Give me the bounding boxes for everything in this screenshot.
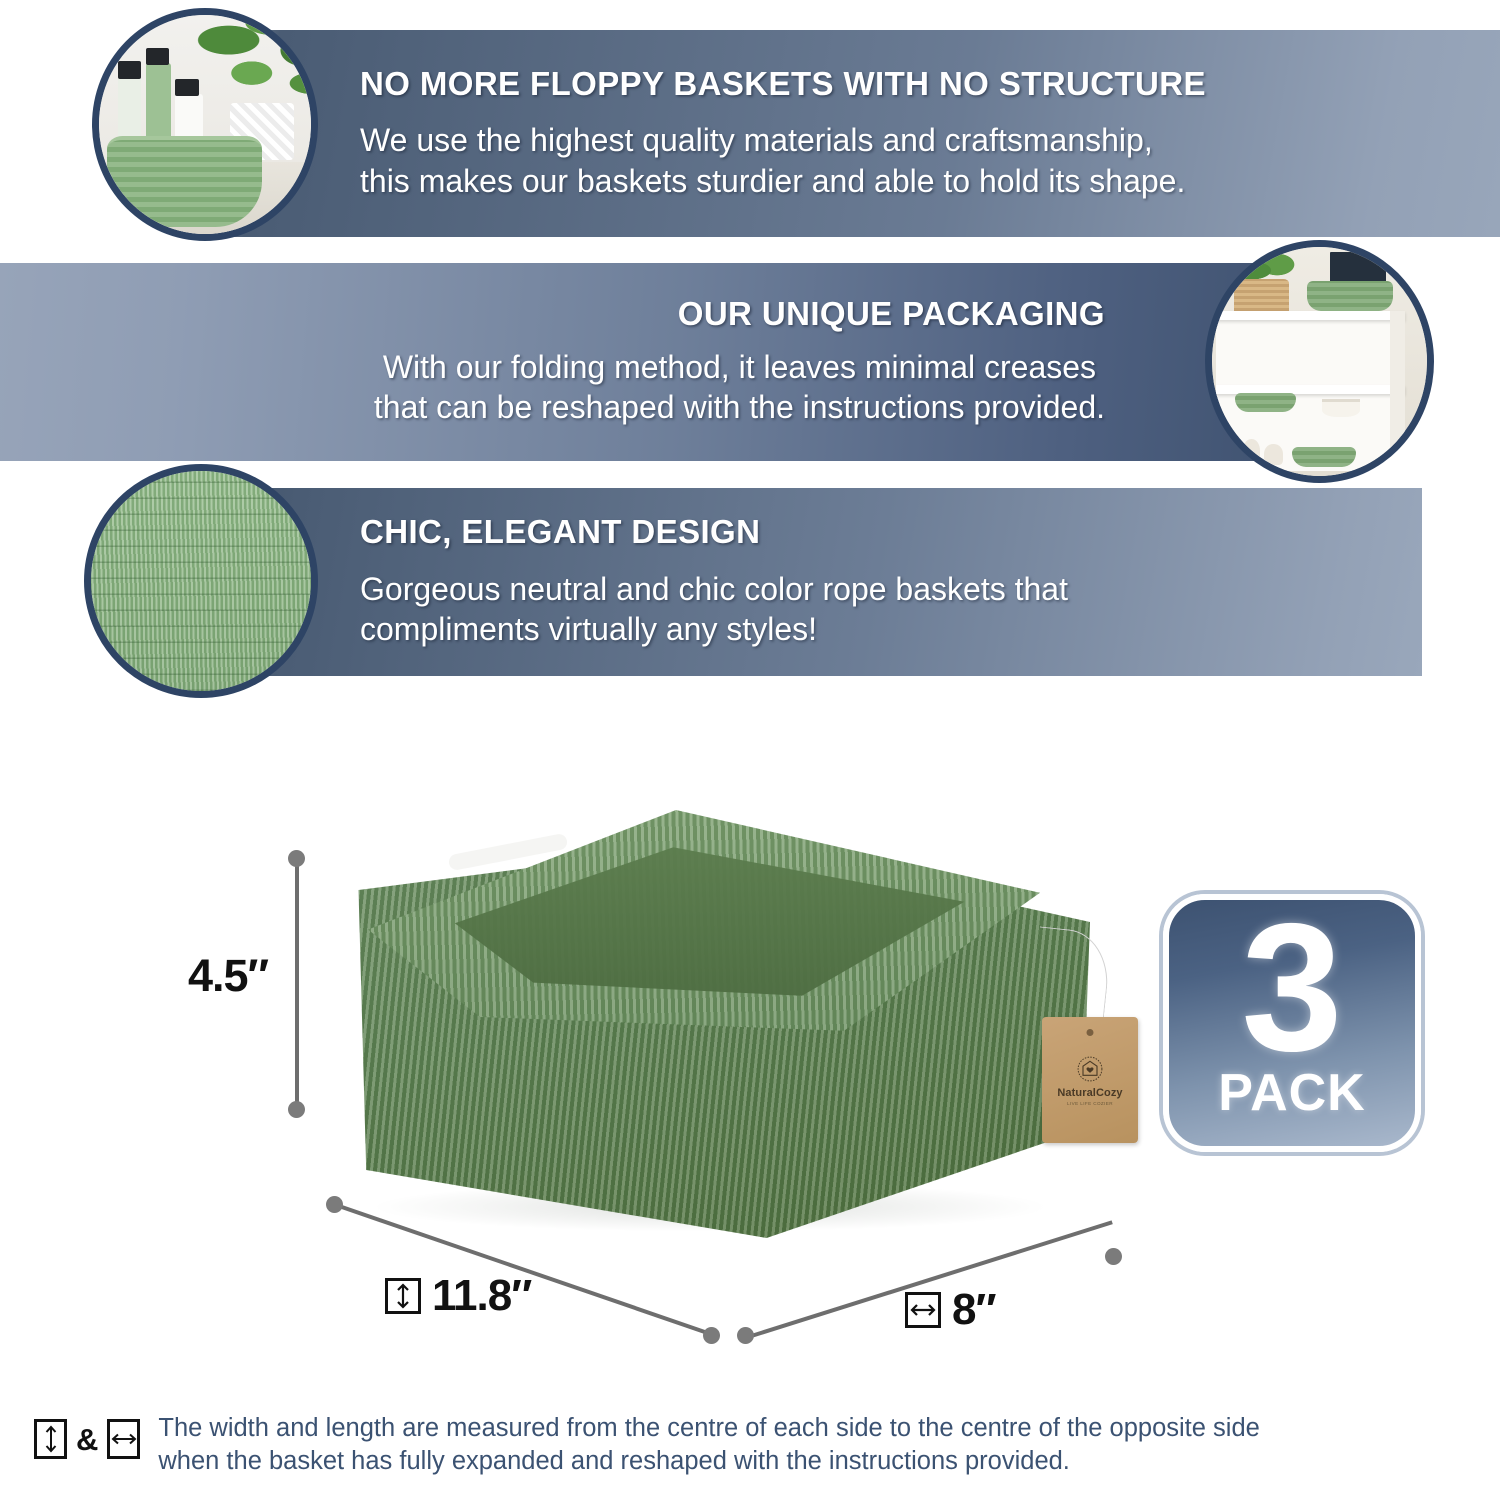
feature-body-design: Gorgeous neutral and chic color rope bas… [360, 569, 1382, 650]
disclaimer-line-1: The width and length are measured from t… [158, 1414, 1259, 1442]
dimension-dot [288, 1101, 305, 1118]
bottle-icon [118, 76, 141, 142]
green-rope-basket-icon [107, 136, 262, 228]
measurement-disclaimer: & The width and length are measured from… [34, 1412, 1474, 1478]
feature-banner-design: CHIC, ELEGANT DESIGN Gorgeous neutral an… [200, 488, 1422, 676]
hang-tag-brand: NaturalCozy [1057, 1087, 1122, 1099]
feature-body-line-2: that can be reshaped with the instructio… [374, 389, 1105, 425]
dimension-dot [288, 850, 305, 867]
length-dimension-label: 11.8″ [385, 1274, 531, 1318]
feature-body-line-2: compliments virtually any styles! [360, 611, 817, 647]
feature-body-structure: We use the highest quality materials and… [360, 120, 1460, 201]
bowl-icon [1322, 399, 1360, 416]
feature-body-line-1: With our folding method, it leaves minim… [383, 349, 1096, 385]
home-heart-logo-icon [1076, 1055, 1104, 1083]
feature-body-line-1: We use the highest quality materials and… [360, 122, 1153, 158]
width-dimension-label: 8″ [905, 1288, 996, 1332]
feature-title-design: CHIC, ELEGANT DESIGN [360, 514, 1382, 550]
shelf-scene [1212, 247, 1427, 476]
bookshelf-unit [1216, 311, 1405, 471]
ampersand-label: & [76, 1424, 98, 1455]
feature-body-line-2: this makes our baskets sturdier and able… [360, 163, 1185, 199]
height-dimension-label: 4.5″ [188, 950, 268, 1002]
width-value: 8″ [952, 1288, 996, 1332]
pack-count-word: PACK [1218, 1063, 1365, 1123]
disclaimer-line-2: when the basket has fully expanded and r… [158, 1447, 1070, 1475]
vase-icon [1264, 444, 1283, 465]
feature-title-structure: NO MORE FLOPPY BASKETS WITH NO STRUCTURE [360, 66, 1460, 102]
shelf-side-panel [1390, 311, 1405, 471]
green-rope-storage-basket [300, 782, 1110, 1262]
hang-tag: NaturalCozy LIVE LIFE COZIER [1042, 1017, 1138, 1143]
bottle-cap-icon [118, 61, 141, 79]
dimension-dot [326, 1196, 343, 1213]
horizontal-arrow-icon [107, 1419, 140, 1459]
shelf-board [1216, 311, 1405, 320]
hang-tag-tagline: LIVE LIFE COZIER [1067, 1101, 1113, 1106]
rope-weave-texture [91, 471, 311, 691]
pack-count-badge: 3 PACK [1163, 894, 1421, 1152]
rope-texture-photo [84, 464, 318, 698]
bottle-cap-icon [146, 48, 169, 66]
feature-banner-packaging: OUR UNIQUE PACKAGING With our folding me… [0, 263, 1300, 461]
feature-banner-structure: NO MORE FLOPPY BASKETS WITH NO STRUCTURE… [200, 30, 1500, 237]
green-rope-basket-icon [1307, 281, 1393, 311]
horizontal-arrow-icon [905, 1292, 941, 1328]
vertical-arrow-icon [34, 1419, 67, 1459]
bathroom-basket-photo [92, 8, 318, 241]
disclaimer-text: The width and length are measured from t… [158, 1412, 1259, 1478]
feature-title-packaging: OUR UNIQUE PACKAGING [678, 296, 1105, 332]
dimension-dot [1105, 1248, 1122, 1265]
length-value: 11.8″ [432, 1274, 531, 1318]
green-rope-basket-icon [1235, 393, 1296, 412]
pack-count-number: 3 [1241, 917, 1342, 1059]
dimension-dot [703, 1327, 720, 1344]
feature-body-line-1: Gorgeous neutral and chic color rope bas… [360, 571, 1068, 607]
height-dimension-line [295, 862, 299, 1110]
green-rope-basket-icon [1292, 447, 1356, 466]
vertical-arrow-icon [385, 1278, 421, 1314]
measurement-icons: & [34, 1419, 140, 1459]
hang-tag-hole [1087, 1029, 1094, 1036]
dimension-dot [737, 1327, 754, 1344]
shelf-baskets-photo [1205, 240, 1434, 483]
feature-body-packaging: With our folding method, it leaves minim… [374, 347, 1105, 428]
vase-icon [1243, 439, 1260, 463]
bottle-cap-icon [175, 79, 198, 97]
bathroom-scene [99, 15, 311, 234]
bottle-icon [146, 63, 171, 142]
